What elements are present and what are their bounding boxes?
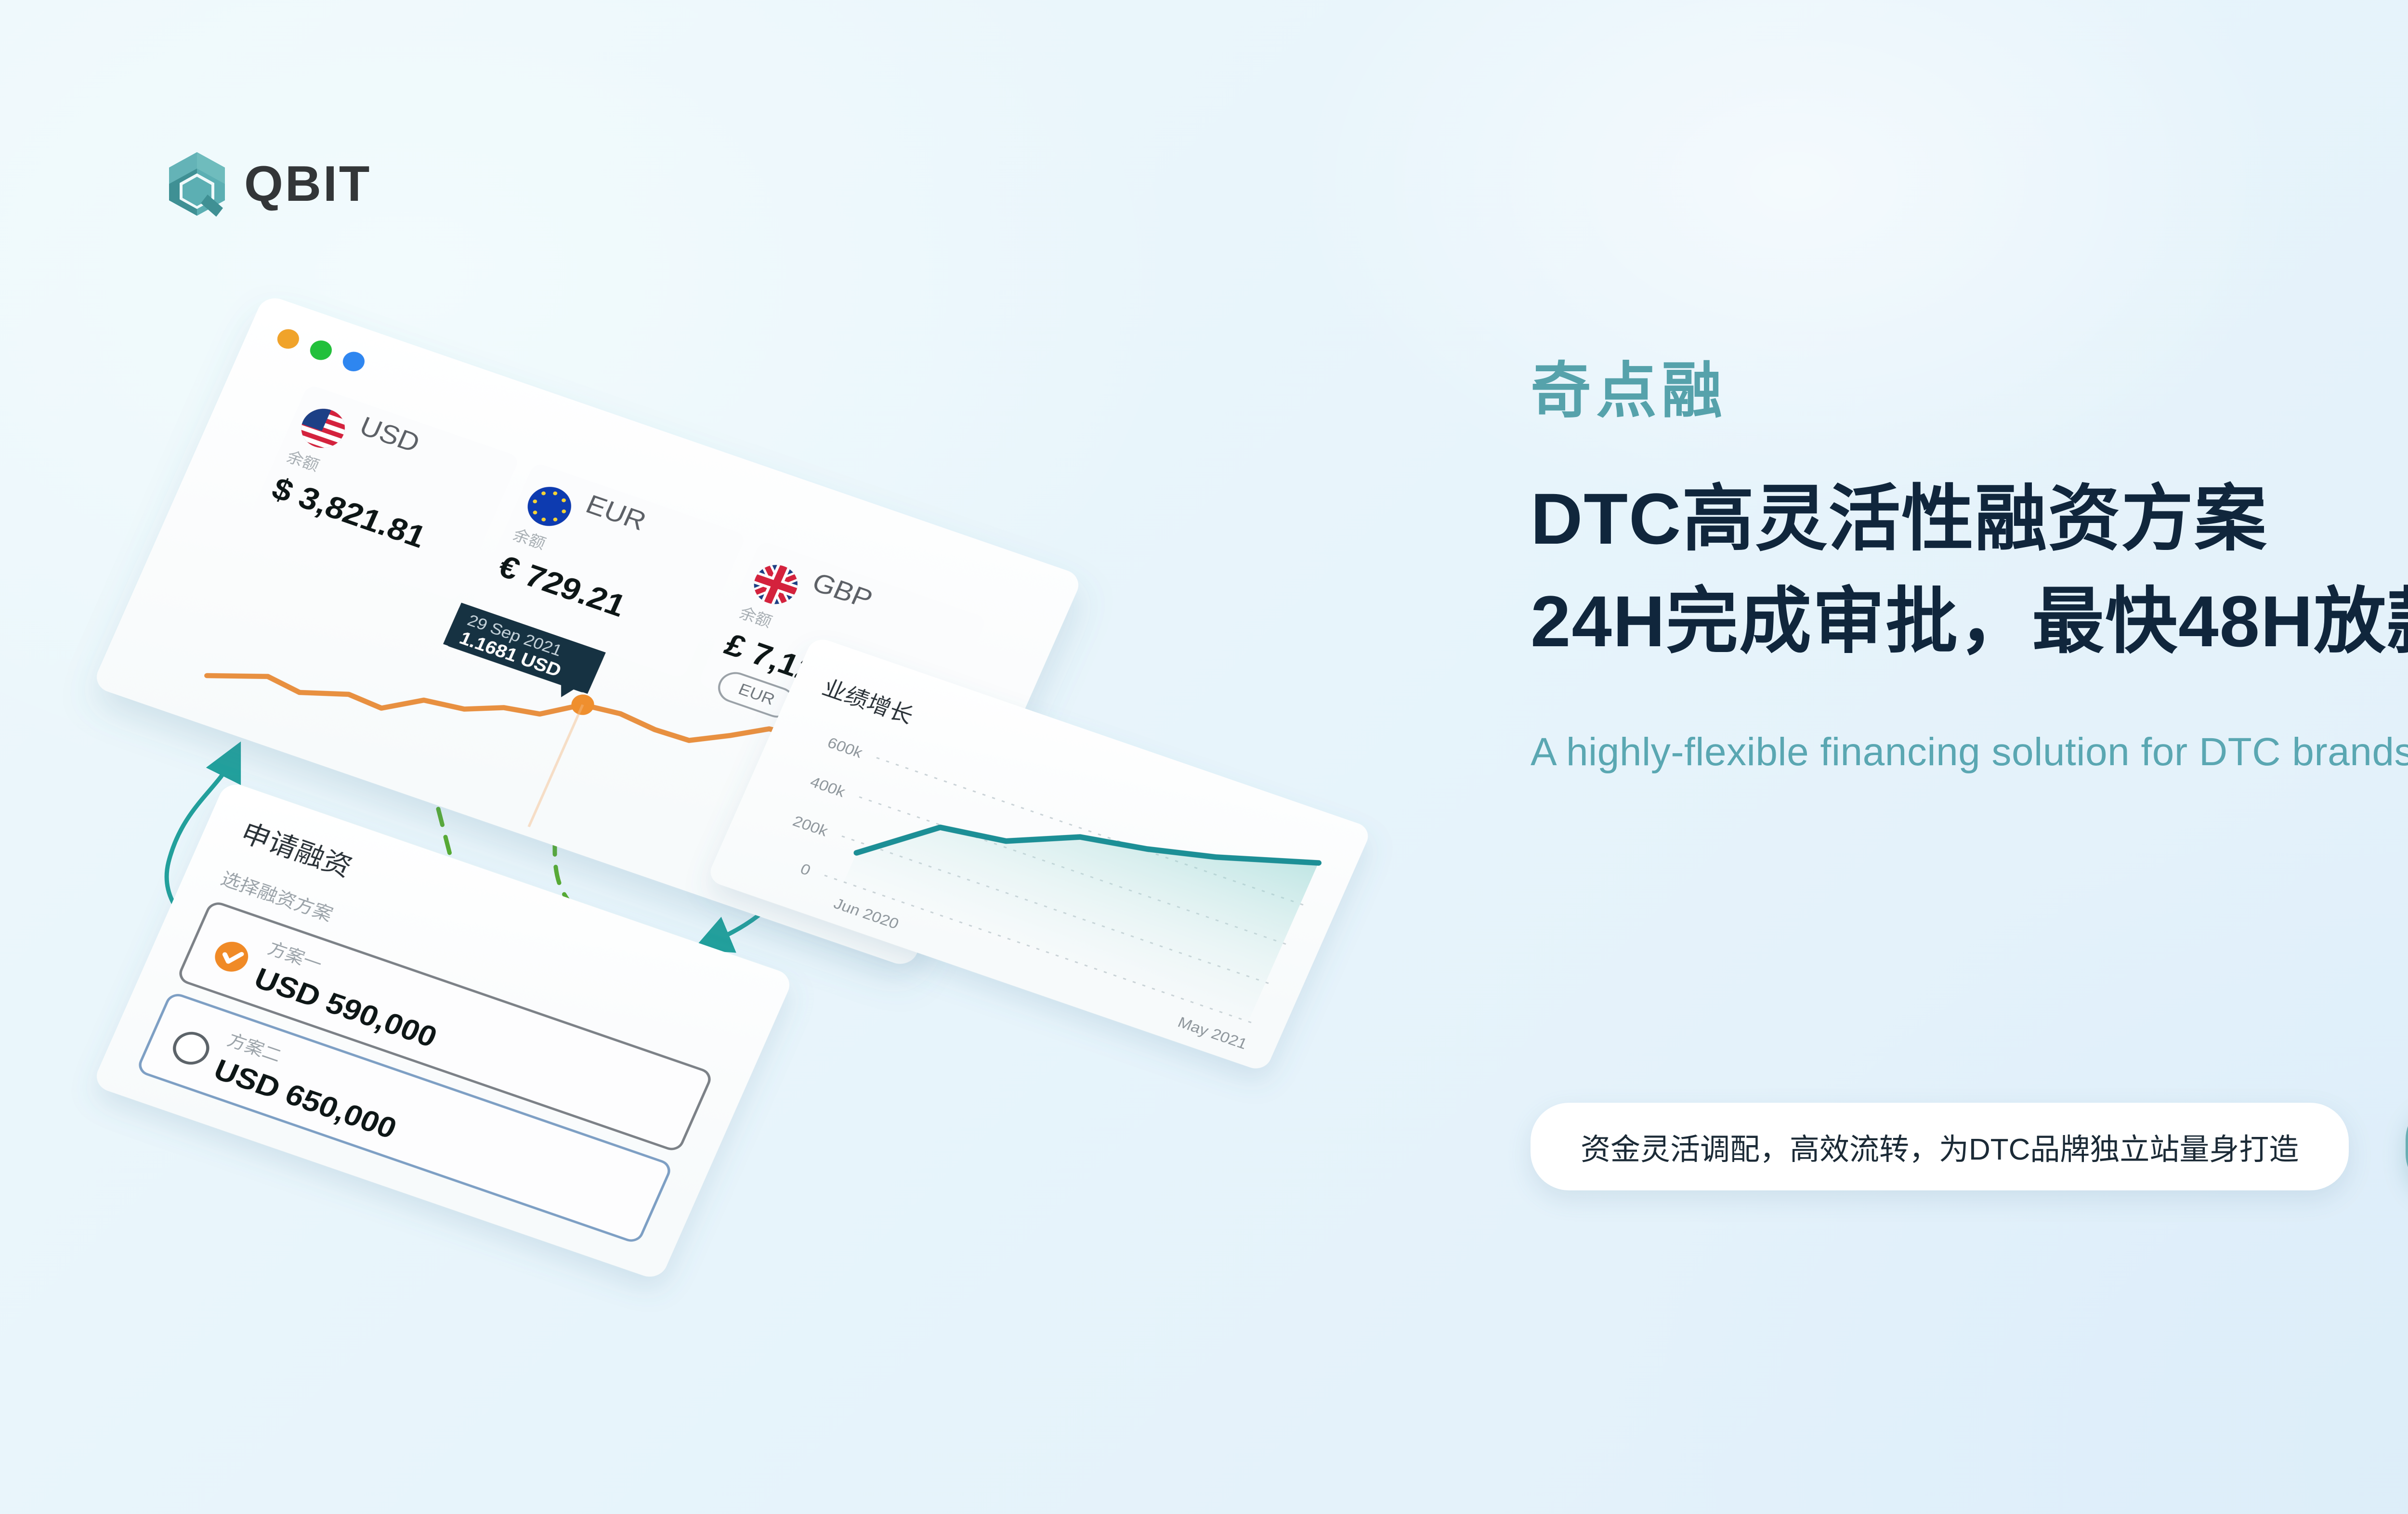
hero-headline-line-1: DTC高灵活性融资方案	[1531, 468, 2408, 570]
tagline-pill: 资金灵活调配，高效流转，为DTC品牌独立站量身打造	[1531, 1103, 2349, 1190]
cta-row: 资金灵活调配，高效流转，为DTC品牌独立站量身打造 立即联系	[1531, 1101, 2408, 1192]
product-illustration: USD 余额 $ 3,821.81 EUR 余额 € 729.21	[72, 270, 1493, 1353]
qbit-hexagon-logo-icon	[166, 150, 228, 218]
brand-logo[interactable]: QBIT	[166, 150, 371, 218]
growth-chart-card: 业绩增长 0 200k 400k 600k Jun 2020 May 2021	[706, 636, 1373, 1072]
hero-headline-line-2: 24H完成审批，最快48H放款	[1531, 570, 2408, 673]
hero-eyebrow: 奇点融	[1531, 356, 2408, 426]
hero-copy: 奇点融 DTC高灵活性融资方案 24H完成审批，最快48H放款 A highly…	[1531, 356, 2408, 778]
hero-subtitle: A highly-flexible financing solution for…	[1531, 727, 2408, 778]
contact-now-button[interactable]: 立即联系	[2406, 1101, 2408, 1192]
brand-wordmark: QBIT	[244, 159, 371, 209]
